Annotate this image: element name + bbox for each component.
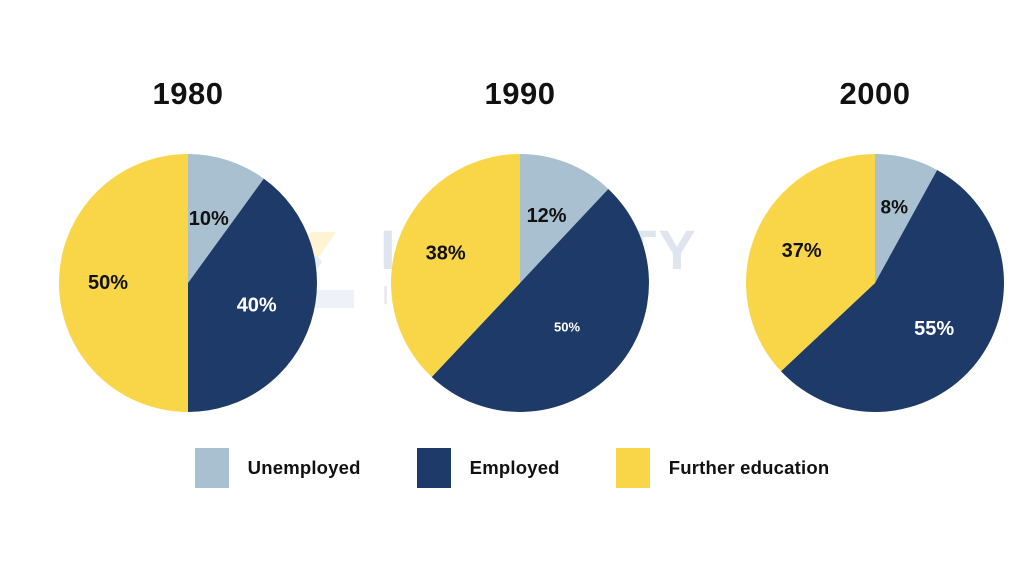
pie-slice-label-1980-employed: 40% bbox=[237, 294, 277, 316]
pie-chart-1990: 199012%50%38% bbox=[370, 78, 670, 415]
legend-item-further-education[interactable]: Further education bbox=[616, 448, 830, 488]
pie-svg-1980: 10%40%50% bbox=[56, 151, 320, 415]
pie-slice-label-2000-unemployed: 8% bbox=[881, 198, 909, 219]
pie-chart-1980: 198010%40%50% bbox=[38, 78, 338, 415]
chart-legend: UnemployedEmployedFurther education bbox=[0, 448, 1024, 488]
legend-label-unemployed: Unemployed bbox=[248, 457, 361, 479]
pie-slice-label-1990-employed: 50% bbox=[554, 320, 580, 335]
pie-slice-label-1990-unemployed: 12% bbox=[527, 205, 567, 227]
legend-item-unemployed[interactable]: Unemployed bbox=[195, 448, 361, 488]
pie-title-1980: 1980 bbox=[38, 78, 338, 109]
legend-swatch-employed bbox=[417, 448, 451, 488]
pie-svg-1990: 12%50%38% bbox=[388, 151, 652, 415]
legend-swatch-further-education bbox=[616, 448, 650, 488]
pie-slice-label-1980-unemployed: 10% bbox=[189, 208, 229, 230]
legend-label-employed: Employed bbox=[470, 457, 560, 479]
pie-title-1990: 1990 bbox=[370, 78, 670, 109]
pie-slice-label-1990-further-education: 38% bbox=[426, 243, 466, 265]
pie-svg-2000: 8%55%37% bbox=[743, 151, 1007, 415]
legend-swatch-unemployed bbox=[195, 448, 229, 488]
pie-title-2000: 2000 bbox=[725, 78, 1024, 109]
legend-label-further-education: Further education bbox=[669, 457, 830, 479]
pie-chart-2000: 20008%55%37% bbox=[725, 78, 1024, 415]
legend-item-employed[interactable]: Employed bbox=[417, 448, 560, 488]
pie-slice-label-2000-further-education: 37% bbox=[782, 240, 822, 262]
pie-slice-label-2000-employed: 55% bbox=[914, 318, 954, 340]
pie-charts-row: 198010%40%50%199012%50%38%20008%55%37% bbox=[0, 0, 1024, 576]
pie-slice-label-1980-further-education: 50% bbox=[88, 272, 128, 294]
